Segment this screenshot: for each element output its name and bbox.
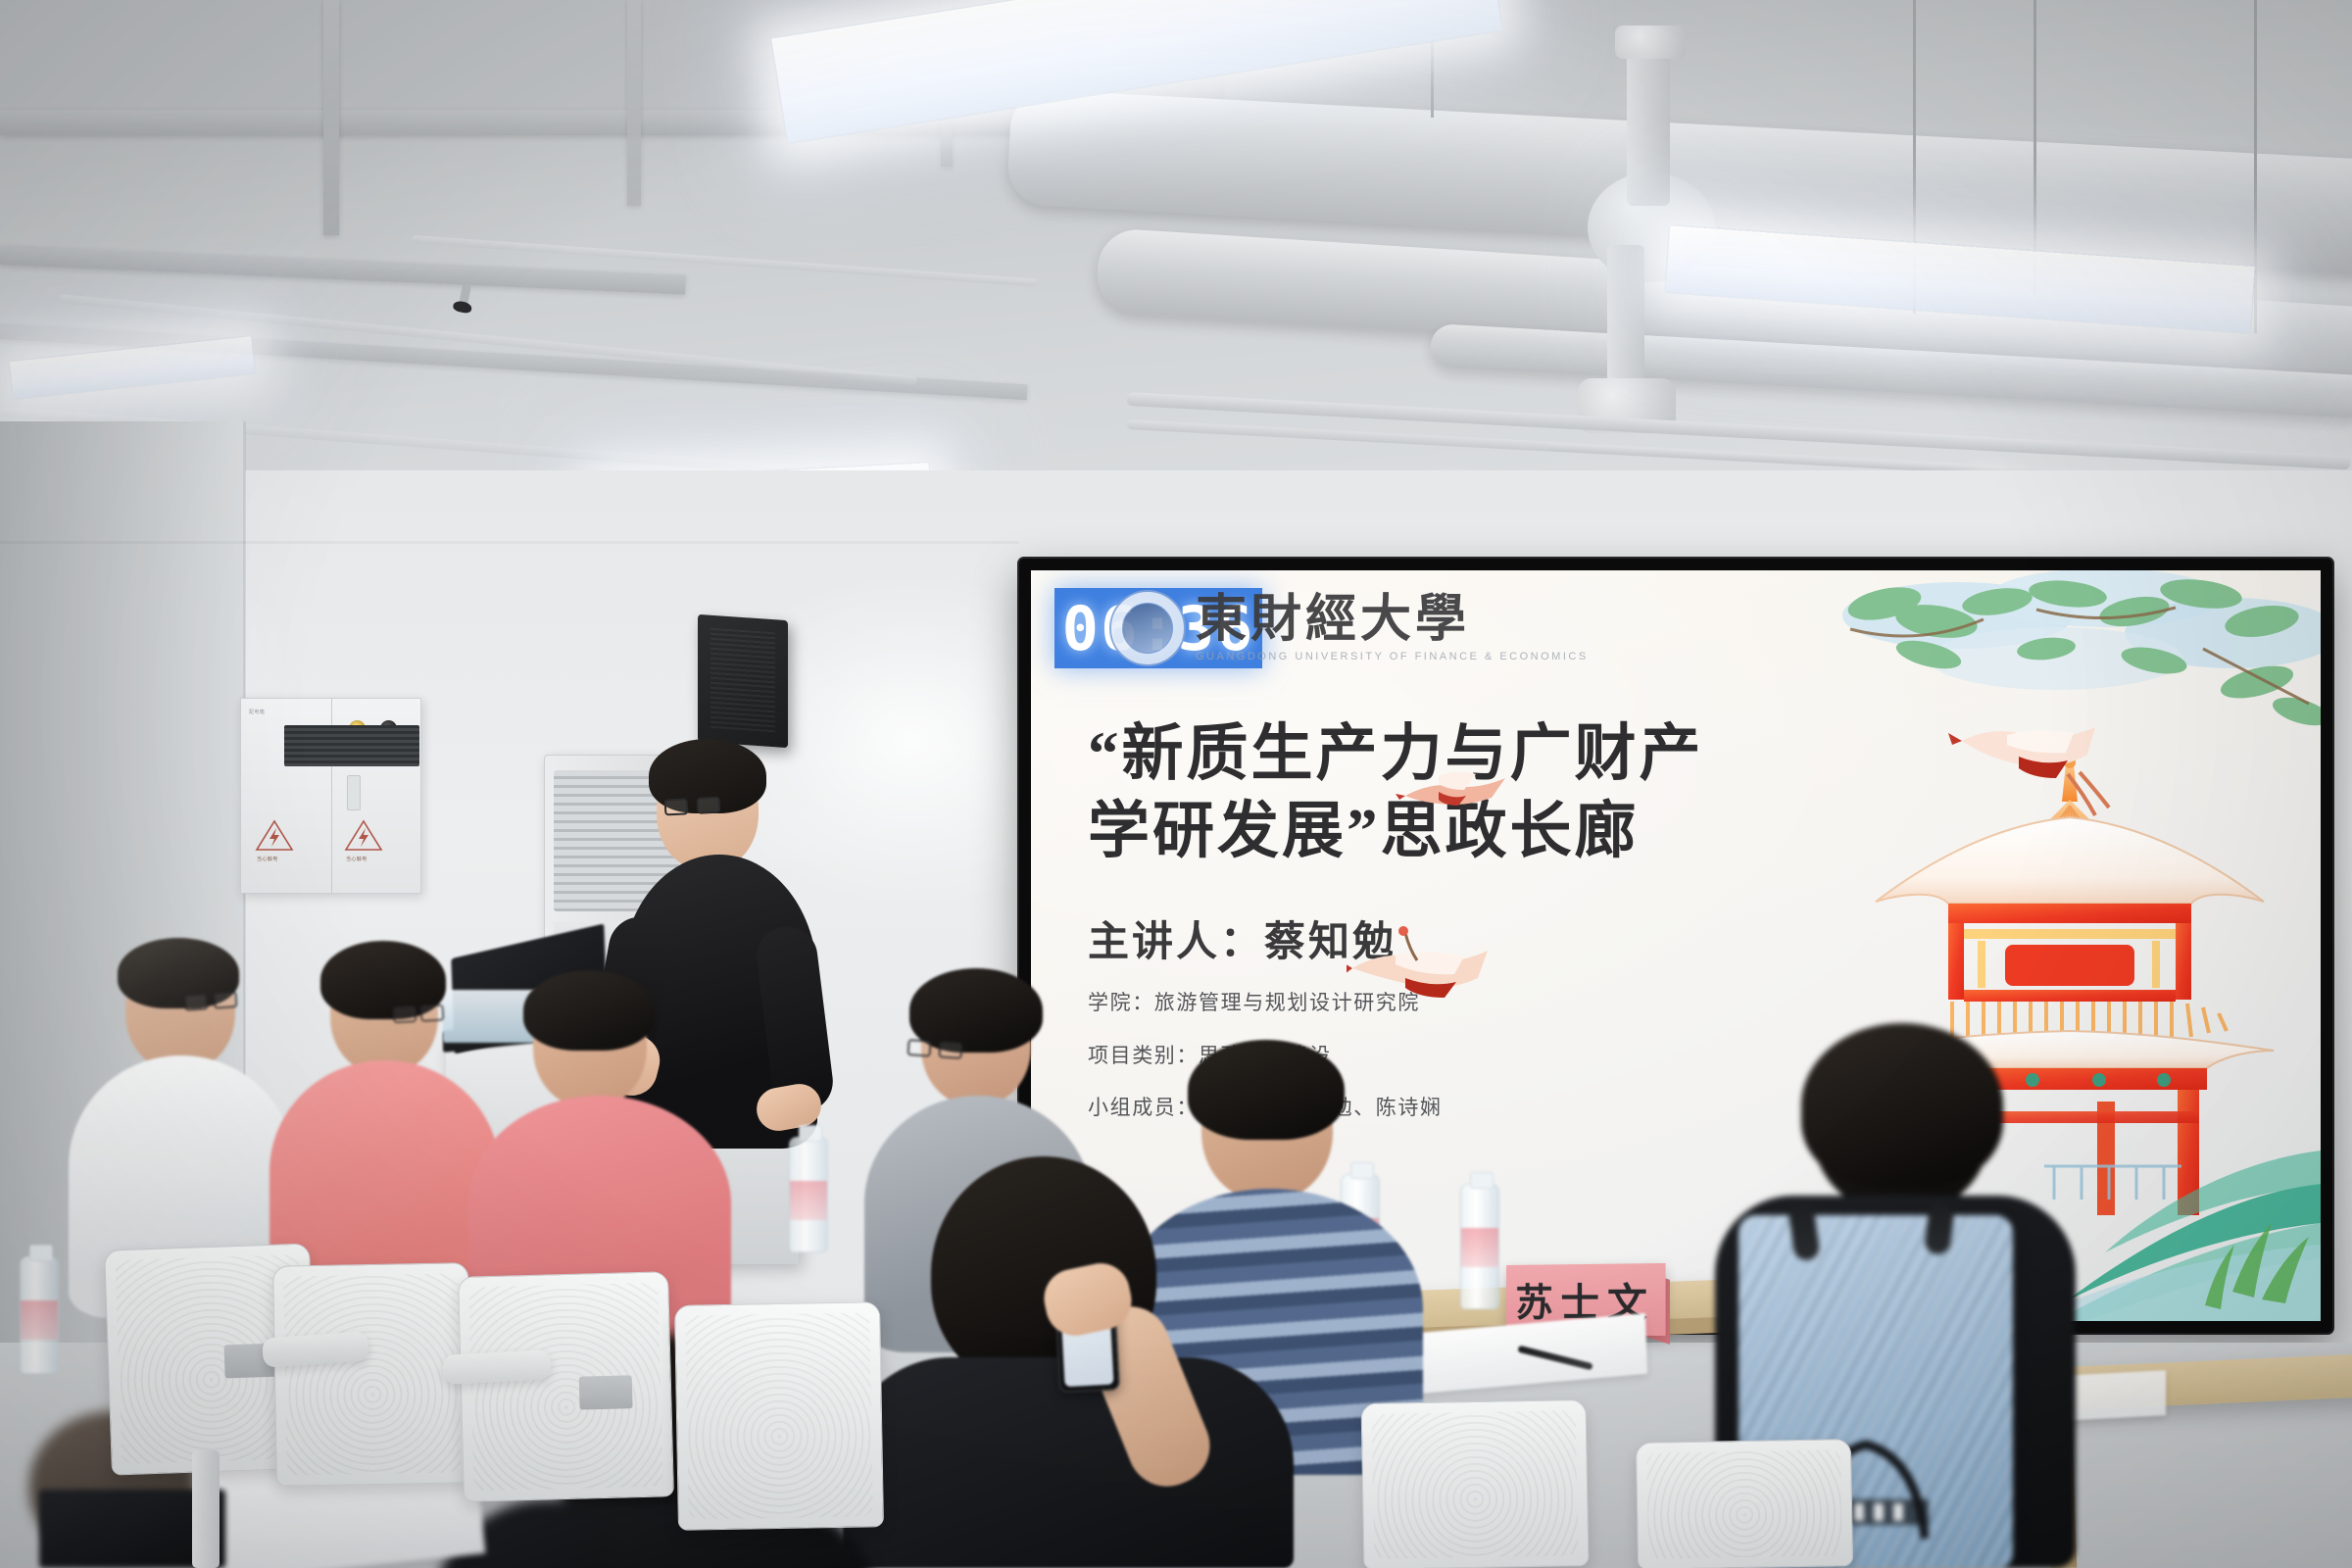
chair-post — [192, 1450, 220, 1568]
chair-mesh — [685, 1312, 873, 1519]
pipe-cap — [1615, 25, 1686, 59]
ceiling-beam-vertical — [627, 0, 641, 206]
hazard-warning-icon — [344, 818, 383, 853]
seal-inner — [1122, 603, 1173, 654]
chair-armrest — [442, 1349, 551, 1385]
university-name-cn: 東財經大學 — [1196, 594, 1589, 645]
crane-icon — [1347, 921, 1494, 1029]
bottle-label — [1461, 1228, 1498, 1267]
chair-mesh — [468, 1283, 662, 1492]
chair-mesh — [1372, 1410, 1579, 1559]
glasses-lens-left — [393, 1005, 417, 1023]
audience-hair — [1188, 1040, 1345, 1140]
cabinet-brand-label: 配电箱 — [249, 709, 265, 715]
glasses-lens-left — [907, 1039, 932, 1057]
chair-mesh — [1646, 1449, 1842, 1558]
wall-seam — [0, 541, 1019, 544]
cabinet-vent-panel — [284, 725, 419, 766]
glasses-lens-left — [183, 993, 208, 1011]
university-seal-icon — [1109, 590, 1186, 666]
university-lockup: 東財經大學 GUANGDONG UNIVERSITY OF FINANCE & … — [1109, 590, 1589, 666]
chair[interactable] — [1361, 1399, 1590, 1568]
cabinet-switch[interactable] — [347, 775, 361, 810]
glasses-icon — [906, 1039, 962, 1060]
bottle-label — [21, 1300, 58, 1340]
glasses-lens-right — [213, 991, 237, 1009]
chair[interactable] — [458, 1271, 674, 1502]
audience-hair — [523, 970, 655, 1051]
glasses-lens-right — [420, 1004, 445, 1022]
university-name-en: GUANGDONG UNIVERSITY OF FINANCE & ECONOM… — [1196, 651, 1589, 662]
crane-icon — [1396, 757, 1513, 827]
glasses-icon — [183, 991, 235, 1012]
cabinet-hazard-label: 当心触电 — [257, 856, 278, 862]
chair[interactable] — [1636, 1439, 1853, 1568]
chair-mesh — [283, 1273, 462, 1475]
lecture-hall-photo: 当心触电 当心触电 配电箱 — [0, 0, 2352, 1568]
hazard-warning-icon — [255, 818, 294, 853]
chair-tag — [579, 1375, 633, 1409]
university-text: 東財經大學 GUANGDONG UNIVERSITY OF FINANCE & … — [1196, 594, 1589, 662]
water-bottle[interactable] — [1460, 1184, 1499, 1309]
glasses-lens-right — [697, 797, 721, 814]
glasses-lens-right — [938, 1041, 962, 1059]
ceiling-beam-vertical — [323, 0, 339, 235]
cabinet-hazard-label: 当心触电 — [346, 856, 367, 862]
vertical-pipe — [1627, 39, 1670, 206]
audience-hair — [1801, 1023, 2003, 1188]
glasses-icon — [393, 1004, 443, 1025]
glasses-icon — [664, 796, 722, 816]
audience-member-with-phone — [813, 1156, 1323, 1568]
chair[interactable] — [272, 1262, 472, 1486]
crane-icon — [1948, 713, 2115, 841]
water-bottle[interactable] — [20, 1256, 59, 1374]
glasses-lens-left — [664, 798, 689, 815]
wall-speaker — [698, 614, 788, 748]
chair[interactable] — [674, 1301, 884, 1531]
